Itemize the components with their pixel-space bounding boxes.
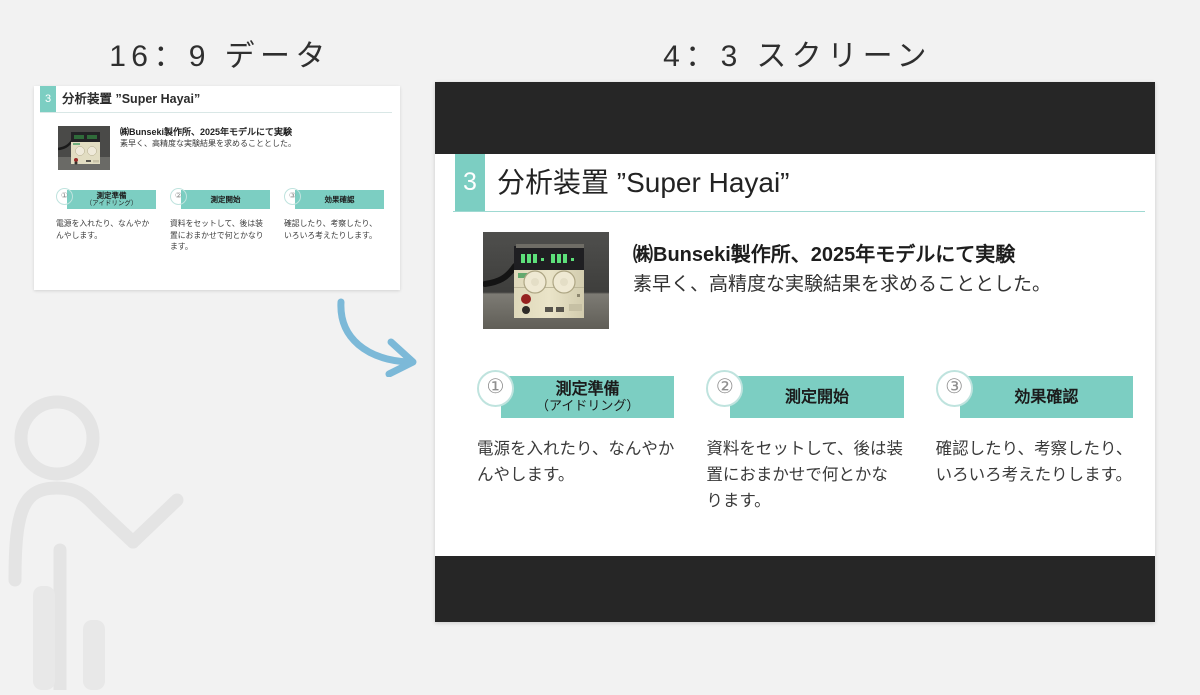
mini-lead-text: ㈱Bunseki製作所、2025年モデルにて実験 素早く、高精度な実験結果を求め… [120,126,296,150]
mini-badge-number: 3 [40,86,56,112]
mini-steps: 測定準備 （アイドリング） ① 電源を入れたり、なんやかんやします。 測定開始 … [56,190,388,253]
mini-step-2-chip-line-1: 測定開始 [211,196,241,204]
step-3: 効果確認 ③ 確認したり、考察したり、いろいろ考えたりします。 [936,376,1133,514]
mini-step-1-chip-line-2: （アイドリング） [86,200,138,208]
slide-header: 3 分析装置 ”Super Hayai” [435,154,1155,212]
slide-lead-text: ㈱Bunseki製作所、2025年モデルにて実験 素早く、高精度な実験結果を求め… [633,232,1051,300]
letterbox-bar-bottom [435,556,1155,622]
step-2-body: 資料をセットして、後は装置におまかせで何とかなります。 [706,436,903,514]
step-2: 測定開始 ② 資料をセットして、後は装置におまかせで何とかなります。 [706,376,903,514]
slide-lead-line-1: ㈱Bunseki製作所、2025年モデルにて実験 [633,240,1051,270]
mini-slide-16-9[interactable]: 3 分析装置 ”Super Hayai” ㈱B [34,86,400,290]
slide-lead-row: ㈱Bunseki製作所、2025年モデルにて実験 素早く、高精度な実験結果を求め… [483,232,1125,332]
slide-steps: 測定準備 （アイドリング） ① 電源を入れたり、なんやかんやします。 測定開始 … [477,376,1133,514]
step-3-body: 確認したり、考察したり、いろいろ考えたりします。 [936,436,1133,488]
mini-step-1-chip: 測定準備 （アイドリング） [67,190,156,209]
caption-16-9: 16：9 データ [0,31,440,75]
step-1-chip: 測定準備 （アイドリング） [501,376,674,418]
mini-step-3-number: ③ [284,188,301,205]
mini-lead-row: ㈱Bunseki製作所、2025年モデルにて実験 素早く、高精度な実験結果を求め… [58,126,386,176]
step-1-chip-line-1: 測定準備 [556,381,620,398]
step-1: 測定準備 （アイドリング） ① 電源を入れたり、なんやかんやします。 [477,376,674,514]
slide-title: 分析装置 ”Super Hayai” [497,154,790,212]
mini-step-3-body: 確認したり、考察したり、いろいろ考えたりします。 [284,218,384,241]
mini-step-2-chip: 測定開始 [181,190,270,209]
mini-step-3-chip-line-1: 効果確認 [325,196,355,204]
mini-lead-line-2: 素早く、高精度な実験結果を求めることとした。 [120,138,296,150]
mini-title-rule [40,112,392,113]
step-1-number: ① [477,370,514,407]
mini-step-1-body: 電源を入れたり、なんやかんやします。 [56,218,156,241]
step-1-chip-line-2: （アイドリング） [536,398,639,414]
caption-4-3: 4：3 スクリーン [435,31,1160,75]
mini-slide-header: 3 分析装置 ”Super Hayai” [34,86,400,112]
mini-slide-title: 分析装置 ”Super Hayai” [62,86,200,112]
screen-4-3[interactable]: 3 分析装置 ”Super Hayai” [435,82,1155,622]
step-2-chip-line-1: 測定開始 [785,389,849,406]
slide-lead-line-2: 素早く、高精度な実験結果を求めることとした。 [633,270,1051,300]
mini-step-3-chip: 効果確認 [295,190,384,209]
step-2-chip: 測定開始 [730,376,903,418]
step-3-chip-line-1: 効果確認 [1014,389,1078,406]
slide-title-rule [453,211,1145,212]
mini-step-1-number: ① [56,188,73,205]
letterbox-bar-top [435,82,1155,154]
mini-step-2-number: ② [170,188,187,205]
step-3-chip: 効果確認 [960,376,1133,418]
presenter-silhouette-icon [5,390,225,690]
power-supply-photo [483,232,609,329]
mini-step-1-chip-line-1: 測定準備 [97,192,127,200]
mini-step-1: 測定準備 （アイドリング） ① 電源を入れたり、なんやかんやします。 [56,190,156,253]
mini-lead-line-1: ㈱Bunseki製作所、2025年モデルにて実験 [120,126,296,138]
mini-step-3: 効果確認 ③ 確認したり、考察したり、いろいろ考えたりします。 [284,190,384,253]
mini-power-supply-photo [58,126,110,170]
step-3-number: ③ [936,370,973,407]
mini-step-2: 測定開始 ② 資料をセットして、後は装置におまかせで何とかなります。 [170,190,270,253]
curved-arrow-icon [325,292,445,377]
slide-stage: 3 分析装置 ”Super Hayai” [435,154,1155,556]
step-1-body: 電源を入れたり、なんやかんやします。 [477,436,674,488]
slide-badge-number: 3 [455,154,485,212]
mini-step-2-body: 資料をセットして、後は装置におまかせで何とかなります。 [170,218,270,253]
